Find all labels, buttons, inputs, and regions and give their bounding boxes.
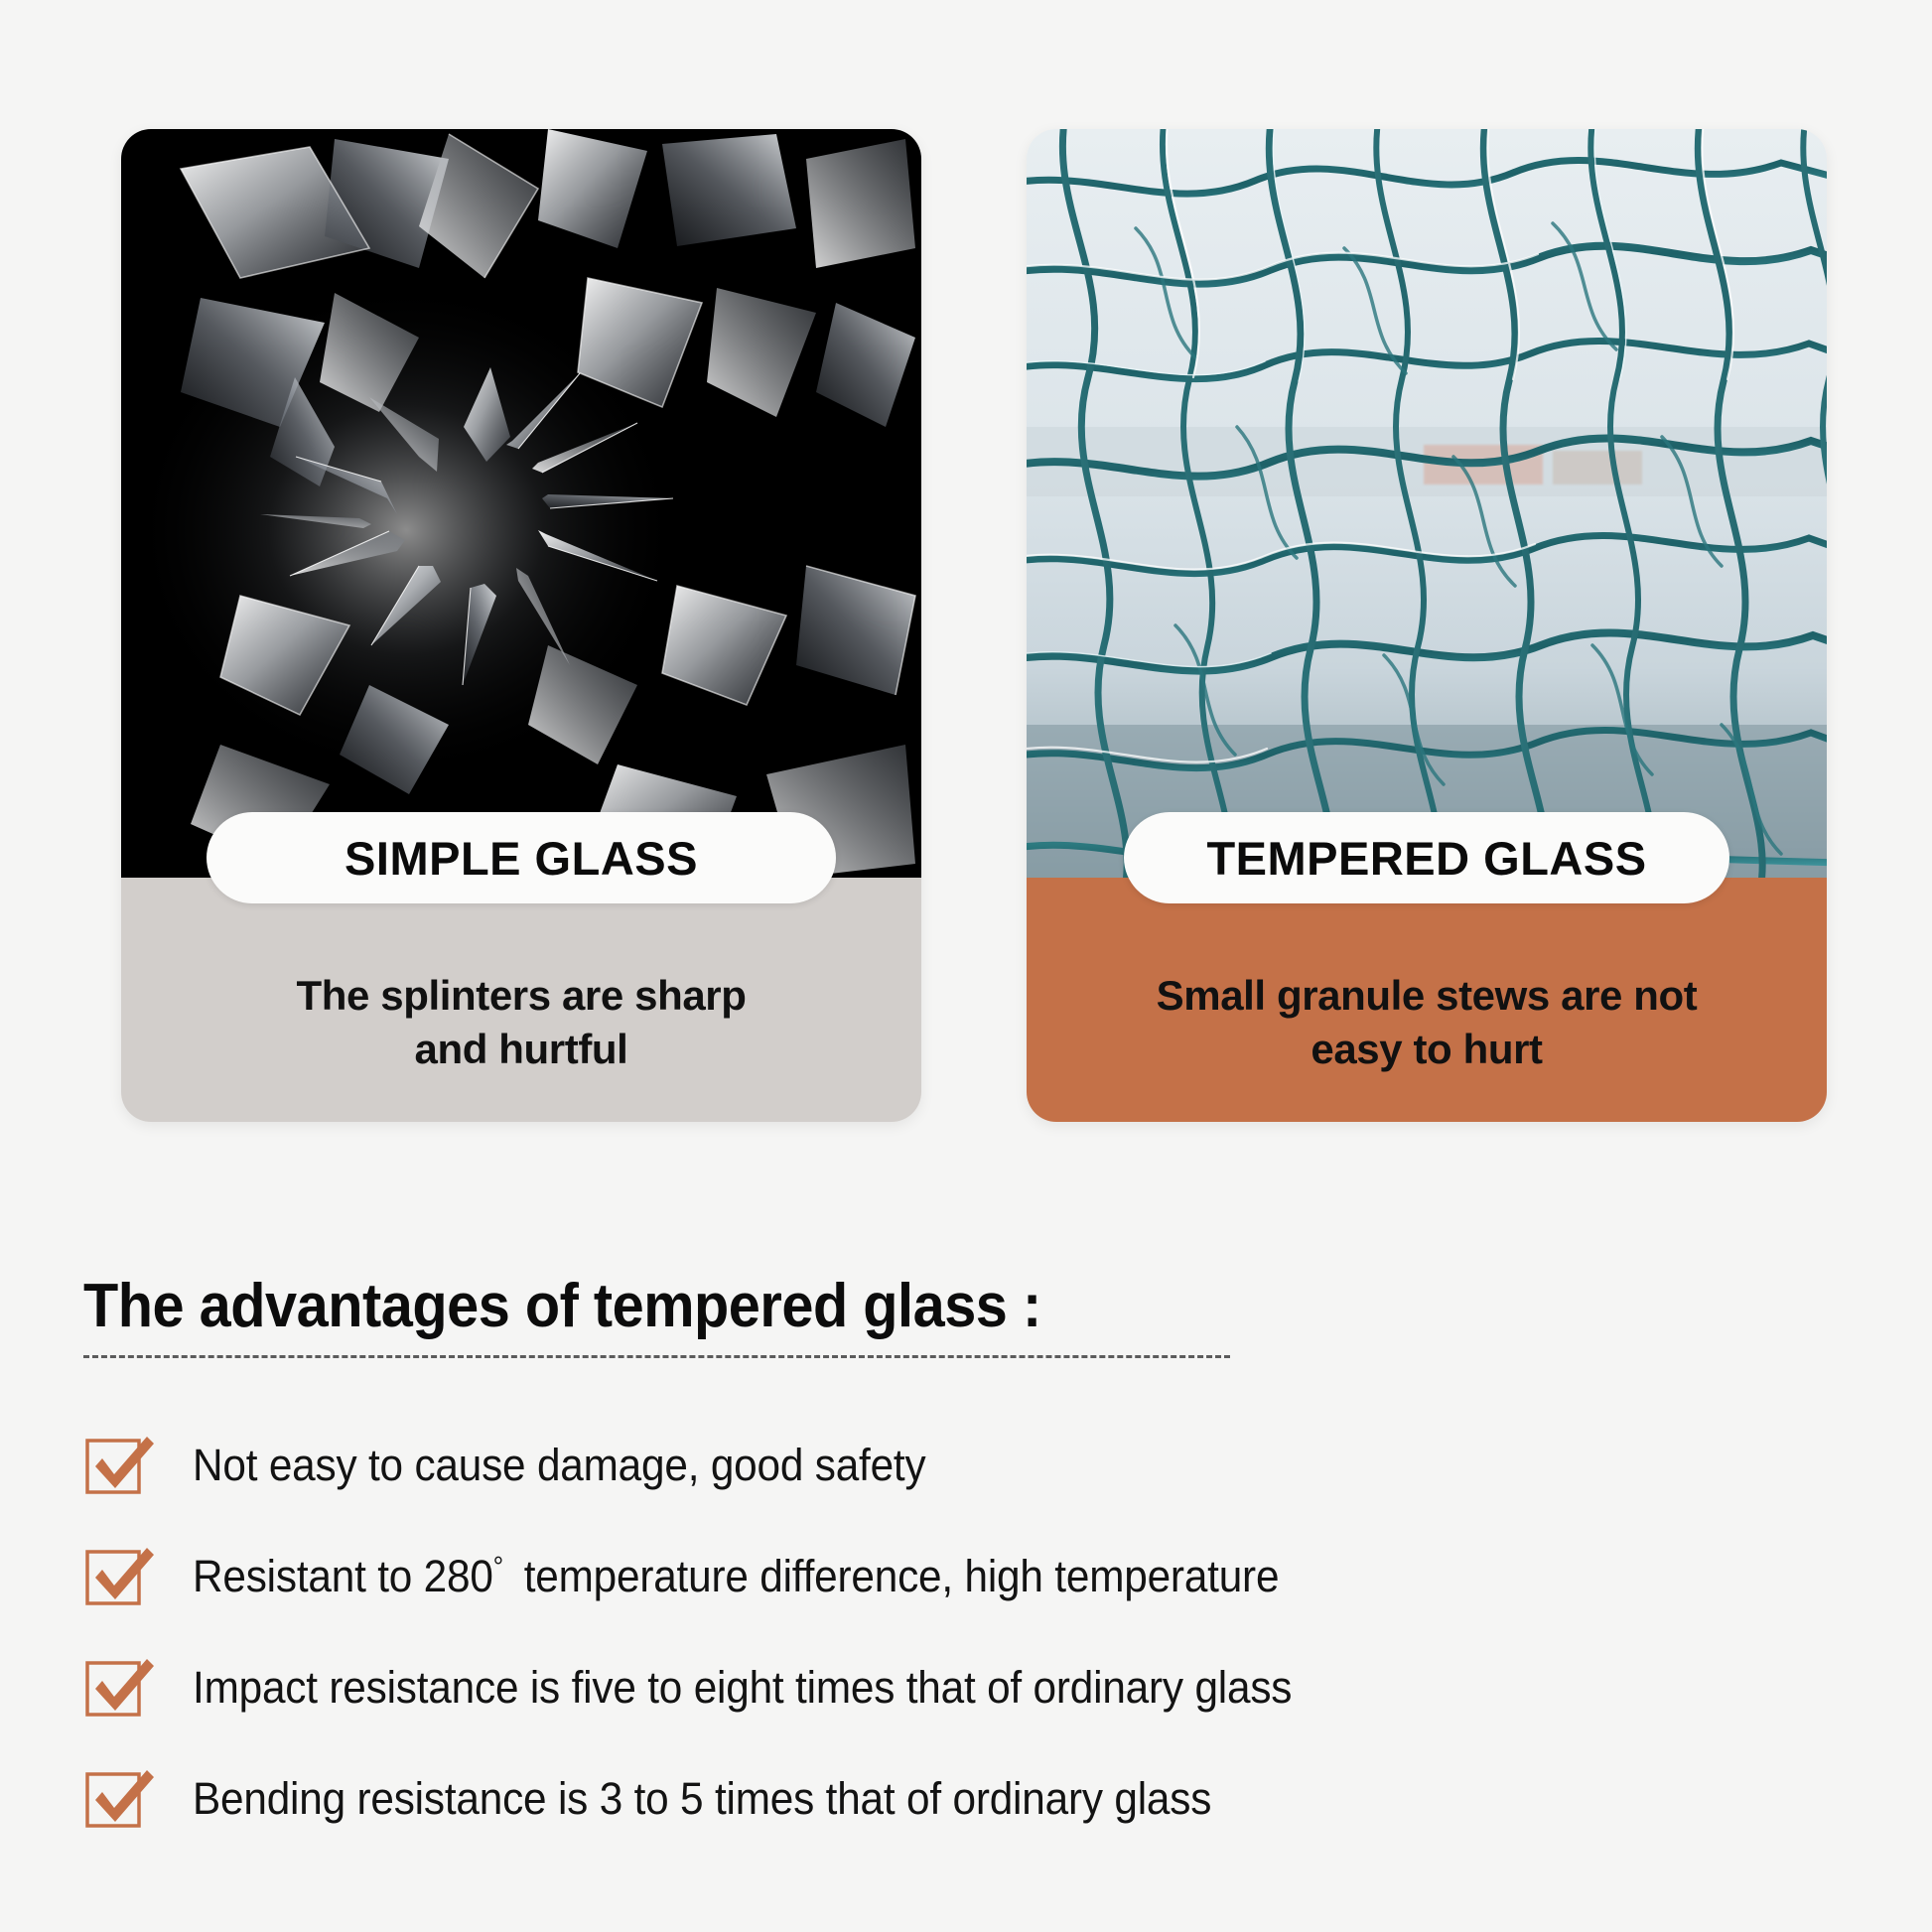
checkbox-checked-icon [83,1542,157,1611]
checkbox-checked-icon [83,1431,157,1500]
simple-glass-photo [121,129,921,878]
advantage-item-2: Resistant to 280°temperature difference,… [83,1531,1771,1622]
card-simple-glass[interactable]: SIMPLE GLASS The splinters are sharp and… [121,129,921,1122]
degree-symbol: ° [493,1551,503,1582]
advantages-list: Not easy to cause damage, good safety Re… [83,1420,1771,1845]
tempered-glass-caption-line2: easy to hurt [1066,1023,1787,1076]
simple-glass-caption-line1: The splinters are sharp [161,969,882,1023]
advantage-item-1: Not easy to cause damage, good safety [83,1420,1771,1511]
simple-glass-caption-line2: and hurtful [161,1023,882,1076]
advantage-text-1: Not easy to cause damage, good safety [193,1440,925,1491]
advantage-text-3: Impact resistance is five to eight times… [193,1662,1292,1714]
tempered-glass-photo [1027,129,1827,878]
card-tempered-glass[interactable]: TEMPERED GLASS Small granule stews are n… [1027,129,1827,1122]
advantages-section: The advantages of tempered glass : Not e… [83,1271,1771,1864]
simple-glass-caption: The splinters are sharp and hurtful [121,969,921,1076]
advantage-2-after: temperature difference, high temperature [524,1551,1280,1601]
advantage-item-3: Impact resistance is five to eight times… [83,1642,1771,1733]
advantages-title: The advantages of tempered glass : [83,1271,1653,1341]
checkbox-checked-icon [83,1764,157,1834]
checkbox-checked-icon [83,1653,157,1723]
advantage-text-2: Resistant to 280°temperature difference,… [193,1551,1279,1602]
advantage-2-before: Resistant to 280 [193,1551,493,1601]
advantages-divider [83,1355,1230,1358]
tempered-glass-caption-line1: Small granule stews are not [1066,969,1787,1023]
advantage-text-4: Bending resistance is 3 to 5 times that … [193,1773,1211,1825]
simple-glass-title: SIMPLE GLASS [345,831,698,886]
tempered-glass-pill: TEMPERED GLASS [1124,812,1729,903]
tempered-glass-title: TEMPERED GLASS [1206,831,1646,886]
simple-glass-pill: SIMPLE GLASS [207,812,836,903]
advantage-item-4: Bending resistance is 3 to 5 times that … [83,1753,1771,1845]
tempered-glass-caption: Small granule stews are not easy to hurt [1027,969,1827,1076]
comparison-cards-row: SIMPLE GLASS The splinters are sharp and… [121,129,1827,1122]
